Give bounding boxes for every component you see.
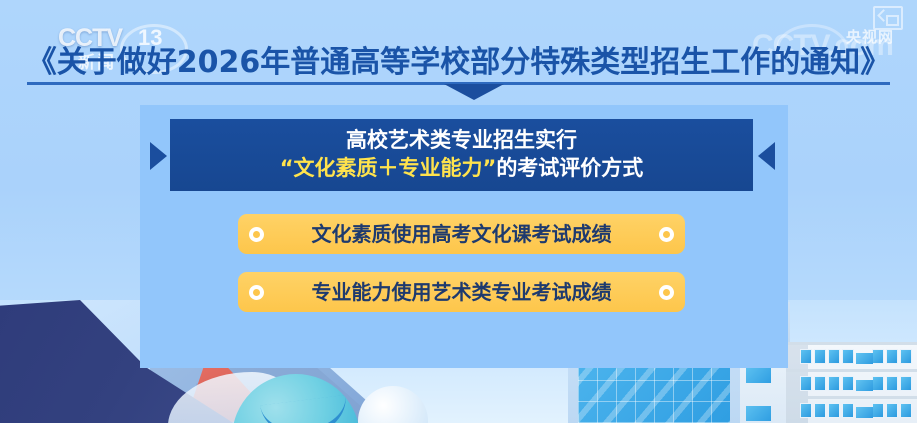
building-ac-unit <box>856 380 873 391</box>
building-window <box>872 349 884 364</box>
building-window <box>828 403 840 418</box>
page-title-text: 《关于做好2026年普通高等学校部分特殊类型招生工作的通知》 <box>27 45 891 85</box>
building-window <box>814 376 826 391</box>
pill-dot-left-icon <box>249 227 264 242</box>
building-floor-line <box>786 342 917 345</box>
pill-dot-right-icon <box>659 227 674 242</box>
triangle-right-icon <box>150 142 167 170</box>
building-window <box>842 349 854 364</box>
bullet-pill-1: 文化素质使用高考文化课考试成绩 <box>238 214 685 254</box>
building-window <box>900 376 912 391</box>
building-window <box>814 403 826 418</box>
page-title: 《关于做好2026年普通高等学校部分特殊类型招生工作的通知》 <box>0 44 917 82</box>
building-window <box>872 403 884 418</box>
triangle-down-icon <box>444 84 504 100</box>
picture-in-picture-icon[interactable] <box>873 6 903 30</box>
bullet-pill-2-label: 专业能力使用艺术类专业考试成绩 <box>312 280 612 304</box>
building-window <box>886 349 898 364</box>
tower-window <box>746 406 771 421</box>
building-window <box>900 349 912 364</box>
building-window <box>900 403 912 418</box>
broadcast-frame: CCTV 13 新闻 CCTV.com 央视网 《关于做好2026年普通高等学校… <box>0 0 917 423</box>
building-ac-unit <box>856 407 873 418</box>
building-window <box>872 376 884 391</box>
headline-banner: 高校艺术类专业招生实行 “文化素质＋专业能力”的考试评价方式 <box>170 119 753 191</box>
building-window <box>886 376 898 391</box>
bullet-pill-2: 专业能力使用艺术类专业考试成绩 <box>238 272 685 312</box>
building-window <box>828 349 840 364</box>
building-ac-unit <box>856 353 873 364</box>
building-window <box>842 403 854 418</box>
building-floor-line <box>786 369 917 372</box>
building-window <box>800 349 812 364</box>
building-window <box>842 376 854 391</box>
triangle-left-icon <box>758 142 775 170</box>
banner-rest-text: 的考试评价方式 <box>496 156 643 180</box>
banner-close-quote: ” <box>483 156 497 180</box>
banner-highlight-text: 文化素质＋专业能力 <box>294 156 483 180</box>
building-window <box>800 376 812 391</box>
pill-dot-left-icon <box>249 285 264 300</box>
building-floor-line <box>786 396 917 399</box>
building-window <box>800 403 812 418</box>
tower-window <box>746 368 771 383</box>
pill-dot-right-icon <box>659 285 674 300</box>
banner-line-1: 高校艺术类专业招生实行 <box>346 127 577 154</box>
building-window <box>814 349 826 364</box>
building-window <box>828 376 840 391</box>
bullet-pill-1-label: 文化素质使用高考文化课考试成绩 <box>312 222 612 246</box>
building-window <box>886 403 898 418</box>
banner-line-2: “文化素质＋专业能力”的考试评价方式 <box>280 154 644 183</box>
banner-open-quote: “ <box>280 156 294 180</box>
